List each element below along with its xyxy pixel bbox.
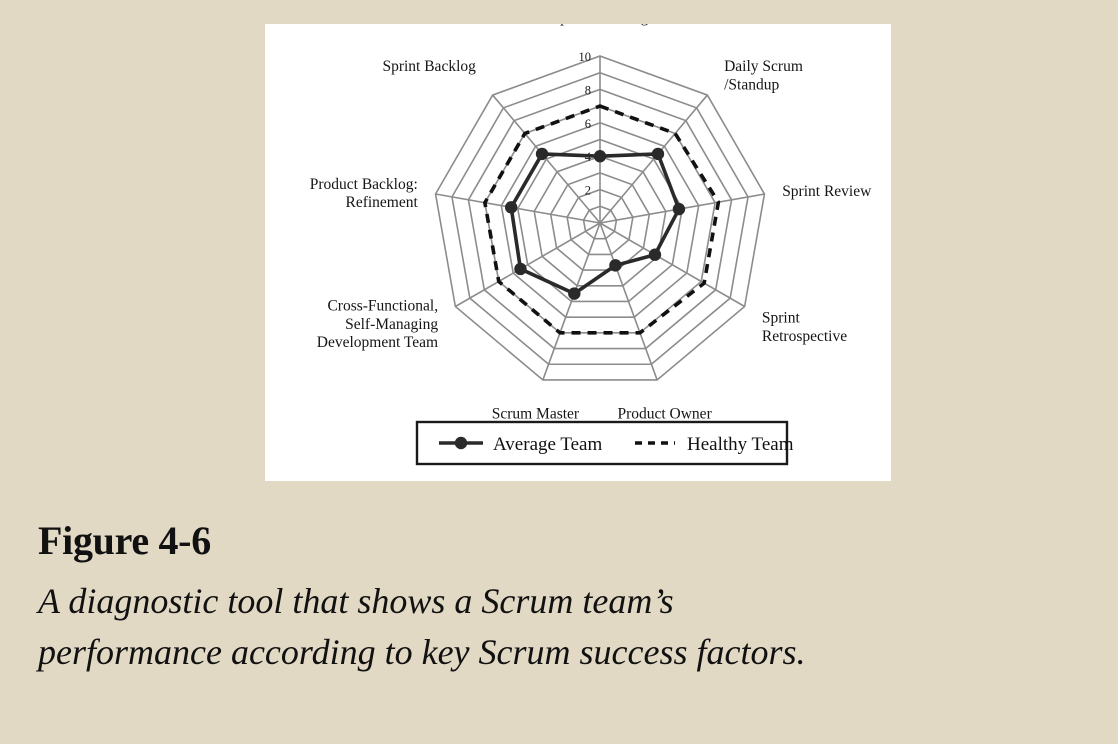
- data-point-marker-8: [536, 148, 548, 160]
- axis-label-1: Daily Scrum/Standup: [724, 58, 803, 93]
- data-point-marker-2: [673, 203, 685, 215]
- legend-marker-average-team: [455, 437, 467, 449]
- legend-label-average-team: Average Team: [493, 434, 602, 455]
- figure-number: Figure 4-6: [38, 520, 1088, 562]
- axis-label-3: SprintRetrospective: [762, 310, 847, 345]
- data-point-marker-5: [568, 287, 580, 299]
- figure-caption-line-1: A diagnostic tool that shows a Scrum tea…: [38, 576, 1088, 627]
- radial-tick-10: 10: [579, 50, 592, 64]
- axis-label-6: Cross-Functional,Self-ManagingDevelopmen…: [317, 298, 439, 352]
- axis-label-7: Product Backlog:Refinement: [310, 176, 419, 211]
- data-point-marker-1: [652, 148, 664, 160]
- figure-caption-line-2: performance according to key Scrum succe…: [38, 627, 1088, 678]
- axis-label-5: Scrum Master: [492, 406, 580, 423]
- data-point-marker-6: [514, 263, 526, 275]
- axis-label-8: Sprint Backlog: [382, 58, 476, 75]
- radial-tick-2: 2: [585, 184, 591, 198]
- axis-label-4: Product Owner: [617, 406, 712, 423]
- axis-label-0: Sprint Planning: [552, 24, 649, 26]
- chart-legend: Average TeamHealthy Team: [417, 422, 794, 464]
- data-point-marker-7: [505, 201, 517, 213]
- radial-tick-6: 6: [585, 117, 591, 131]
- legend-label-healthy-team: Healthy Team: [687, 434, 794, 455]
- figure-image-panel: 246810 Sprint PlanningDaily Scrum/Standu…: [265, 24, 891, 481]
- radar-chart: 246810 Sprint PlanningDaily Scrum/Standu…: [265, 24, 891, 481]
- data-point-marker-0: [594, 150, 606, 162]
- axis-label-2: Sprint Review: [782, 183, 872, 200]
- radial-tick-labels: 246810: [579, 50, 592, 198]
- data-point-marker-3: [649, 249, 661, 261]
- data-point-marker-4: [609, 259, 621, 271]
- figure-caption-block: Figure 4-6 A diagnostic tool that shows …: [38, 520, 1088, 678]
- radial-tick-8: 8: [585, 83, 591, 97]
